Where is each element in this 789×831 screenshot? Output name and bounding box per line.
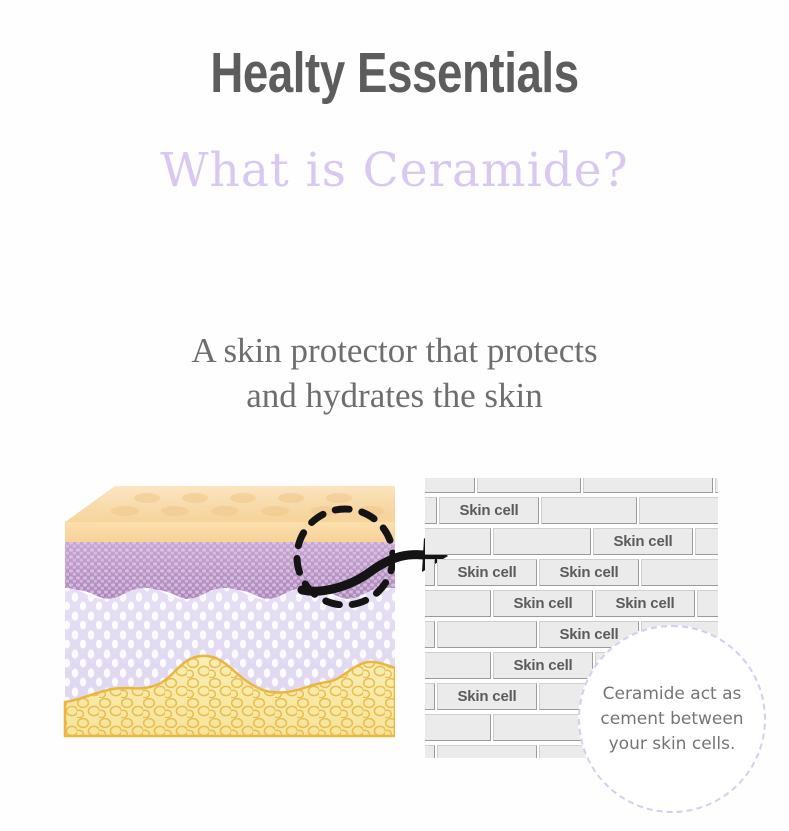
skin-cell-label: Skin cell (613, 533, 672, 550)
brick-row: Skin cell (425, 526, 718, 557)
blank-brick (695, 528, 718, 555)
blank-brick (583, 478, 713, 493)
brick-row: Skin cell (425, 495, 718, 526)
lead-line-2: and hydrates the skin (0, 373, 789, 418)
skin-cell-label: Skin cell (559, 626, 618, 643)
callout-text: Ceramide act as cement between your skin… (587, 682, 757, 757)
blank-brick (425, 683, 435, 710)
blank-brick (425, 652, 491, 679)
ceramide-callout-bubble: Ceramide act as cement between your skin… (578, 625, 766, 813)
brick-row: Skin cellSkin cell (425, 588, 718, 619)
blank-brick (437, 745, 537, 758)
blank-brick (425, 528, 491, 555)
brick-row: Skin cellSkin cell (425, 557, 718, 588)
skin-cell-brick: Skin cell (595, 590, 695, 617)
callout-line-1: Ceramide act as (587, 682, 757, 707)
skin-cell-label: Skin cell (615, 595, 674, 612)
skin-cell-brick: Skin cell (493, 590, 593, 617)
skin-cell-label: Skin cell (559, 564, 618, 581)
skin-cell-brick: Skin cell (593, 528, 693, 555)
skin-cell-label: Skin cell (459, 502, 518, 519)
skin-cell-brick: Skin cell (437, 559, 537, 586)
blank-brick (425, 497, 437, 524)
infographic-poster: Healty Essentials What is Ceramide? A sk… (0, 0, 789, 831)
lead-line-1: A skin protector that protects (0, 328, 789, 373)
skin-cell-brick: Skin cell (439, 497, 539, 524)
page-title: Healty Essentials (79, 42, 710, 104)
blank-brick (639, 497, 718, 524)
skin-cell-label: Skin cell (513, 595, 572, 612)
skin-cell-label: Skin cell (457, 564, 516, 581)
skin-cell-label: Skin cell (457, 688, 516, 705)
skin-cell-brick: Skin cell (539, 559, 639, 586)
blank-brick (437, 621, 537, 648)
blank-brick (541, 497, 637, 524)
skin-cell-brick: Skin cell (493, 652, 593, 679)
blank-brick (715, 478, 718, 493)
skin-cell-label: Skin cell (513, 657, 572, 674)
brick-row (425, 478, 718, 495)
blank-brick (641, 559, 718, 586)
blank-brick (425, 478, 475, 493)
blank-brick (425, 559, 435, 586)
blank-brick (425, 621, 435, 648)
epidermis-top-face (65, 486, 395, 522)
page-subtitle: What is Ceramide? (0, 143, 789, 199)
callout-line-2: cement between (587, 707, 757, 732)
blank-brick (477, 478, 581, 493)
blank-brick (697, 590, 718, 617)
skin-cross-section-diagram (55, 478, 395, 760)
lead-paragraph: A skin protector that protects and hydra… (0, 328, 789, 418)
blank-brick (425, 745, 435, 758)
blank-brick (425, 590, 491, 617)
blank-brick (425, 714, 491, 741)
blank-brick (493, 528, 591, 555)
callout-line-3: your skin cells. (587, 732, 757, 757)
skin-cell-brick: Skin cell (437, 683, 537, 710)
